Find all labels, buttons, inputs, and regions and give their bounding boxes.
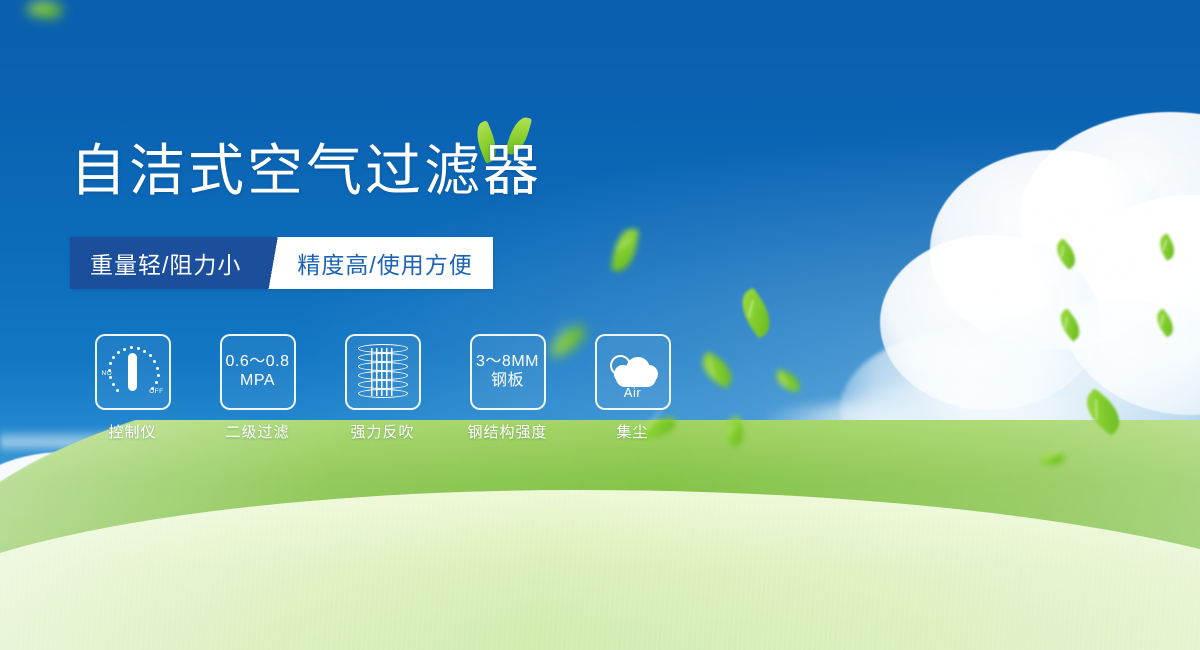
feature-icon-box: Air (595, 334, 671, 410)
control-dial-icon: NO OFF (103, 344, 163, 400)
feature-label: 控制仪 (108, 421, 156, 442)
badge-weight-resistance: 重量轻/阻力小 (70, 237, 263, 289)
feature-label: 强力反吹 (350, 421, 414, 442)
steel-plate-line2: 钢板 (491, 372, 524, 391)
dial-label-off: OFF (149, 388, 163, 395)
badge-precision-convenience: 精度高/使用方便 (289, 237, 492, 289)
grass-field (0, 420, 1200, 650)
pressure-value-line2: MPA (240, 372, 275, 391)
filter-coil-icon (358, 344, 408, 400)
product-hero-banner: 自洁式空气过滤器 重量轻/阻力小 精度高/使用方便 (0, 0, 1200, 650)
page-title: 自洁式空气过滤器 (70, 143, 542, 199)
feature-item-controller[interactable]: NO OFF 控制仪 (70, 334, 195, 442)
feature-item-two-stage-filtration[interactable]: 0.6～0.8 MPA 二级过滤 (195, 334, 320, 442)
pressure-value-line1: 0.6～0.8 (226, 353, 290, 372)
feature-item-dust-collection[interactable]: Air 集尘 (570, 334, 695, 442)
feature-list: NO OFF 控制仪 0.6～0.8 MPA 二级过滤 (70, 334, 695, 442)
feature-icon-box (345, 334, 421, 410)
dial-needle (128, 353, 137, 391)
feature-item-steel-strength[interactable]: 3～8MM 钢板 钢结构强度 (445, 334, 570, 442)
feature-label: 集尘 (616, 421, 648, 442)
badge-divider (263, 237, 289, 289)
air-cloud-icon: Air (604, 347, 662, 397)
feature-icon-box: 3～8MM 钢板 (470, 334, 546, 410)
air-label: Air (604, 385, 662, 400)
feature-icon-box: 0.6～0.8 MPA (220, 334, 296, 410)
tagline-badges: 重量轻/阻力小 精度高/使用方便 (70, 237, 493, 289)
feature-label: 钢结构强度 (467, 421, 547, 442)
feature-label: 二级过滤 (225, 421, 289, 442)
feature-icon-box: NO OFF (95, 334, 171, 410)
feature-item-back-blowing[interactable]: 强力反吹 (320, 334, 445, 442)
dial-label-no: NO (102, 370, 113, 377)
steel-plate-line1: 3～8MM (476, 353, 539, 372)
